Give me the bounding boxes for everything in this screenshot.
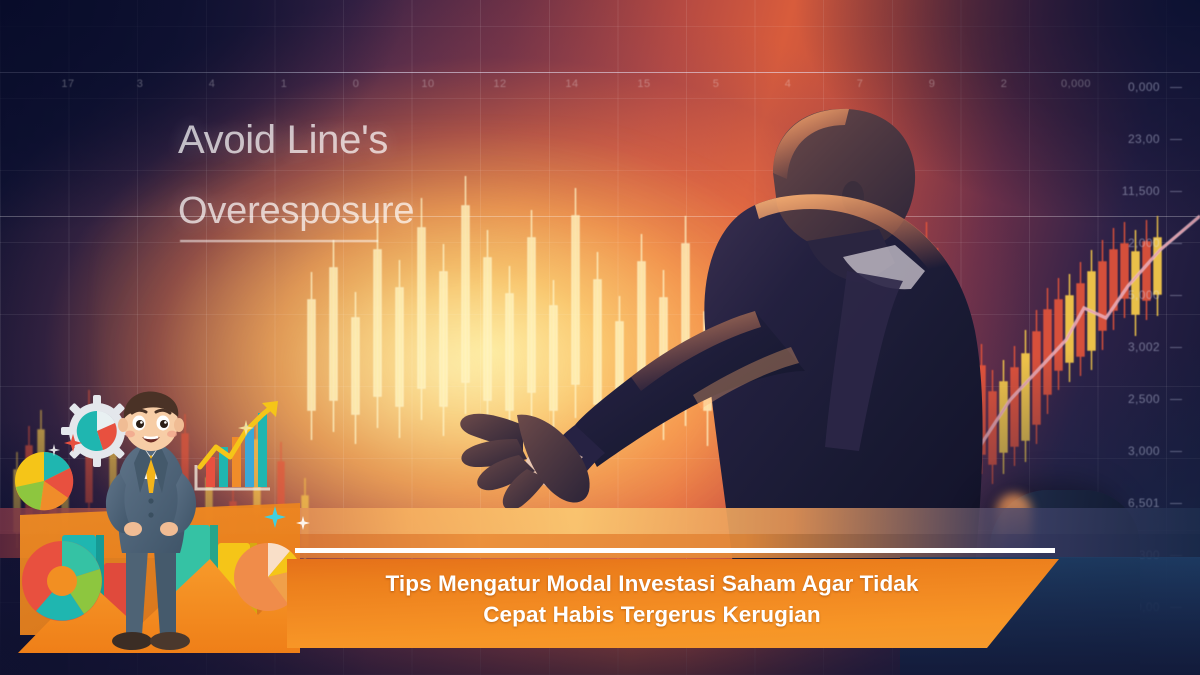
y-tick-label: 2,000 [1128, 236, 1160, 250]
x-tick-label: 15 [637, 78, 650, 90]
x-tick-label: 12 [493, 78, 506, 90]
y-tick-label: 2,500 [1128, 392, 1160, 406]
x-tick-label: 4 [785, 78, 792, 90]
x-tick-label: 3 [137, 78, 144, 90]
y-tick-label: 23,00 [1128, 132, 1160, 146]
x-tick-label: 0 [353, 78, 360, 90]
x-tick-label: 2 [1001, 78, 1008, 90]
banner-top-rule [295, 548, 1055, 553]
banner-title-line-2: Cepat Habis Tergerus Kerugian [287, 599, 1017, 630]
banner-title: Tips Mengatur Modal Investasi Saham Agar… [287, 568, 1017, 630]
y-tick-label: 3,002 [1128, 340, 1160, 354]
watermark-line-2: Overesposure [178, 190, 414, 233]
title-banner: Tips Mengatur Modal Investasi Saham Agar… [287, 548, 1059, 648]
businessman-silhouette [455, 95, 1015, 565]
hero-banner-image: Avoid Line's Overesposure 17341010121415… [0, 0, 1200, 675]
x-tick-label: 17 [61, 78, 74, 90]
x-tick-label: 9 [929, 78, 936, 90]
cartoon-pie-chart-small [15, 452, 73, 510]
cartoon-growth-chart [196, 401, 278, 489]
y-tick-label: 0,000 [1128, 80, 1160, 94]
watermark-line-1: Avoid Line's [178, 118, 388, 163]
y-tick-label: 11,500 [1122, 184, 1160, 198]
watermark-underline [180, 240, 378, 242]
x-tick-label: 7 [857, 78, 864, 90]
banner-title-line-1: Tips Mengatur Modal Investasi Saham Agar… [385, 571, 918, 596]
x-tick-label: 5 [713, 78, 720, 90]
x-tick-label: 4 [209, 78, 216, 90]
cartoon-scene [0, 385, 320, 675]
x-tick-label: 1 [281, 78, 288, 90]
y-tick-label: 3,000 [1128, 444, 1160, 458]
x-tick-label: 10 [421, 78, 434, 90]
y-tick-label: 5,000 [1128, 288, 1160, 302]
cartoon-donut-chart [22, 541, 102, 621]
x-tick-label: 14 [565, 78, 578, 90]
